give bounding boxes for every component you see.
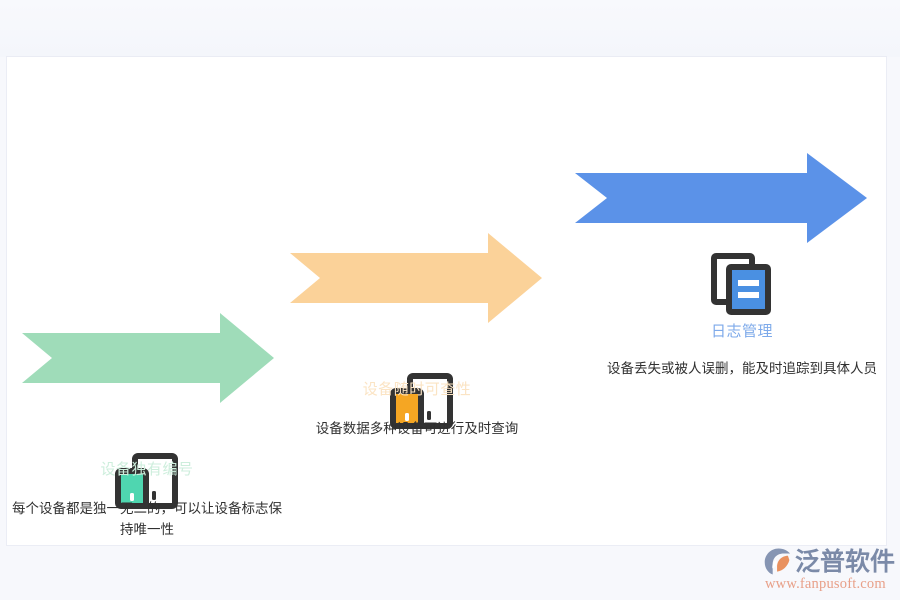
fanpu-logo-icon [764,547,793,576]
brand-logo-url: www.fanpusoft.com [764,576,900,593]
blue-arrow [575,153,867,243]
brand-logo-row: 泛普软件 [764,546,900,576]
green-arrow [22,313,274,403]
page-root: 设备独有编号 每个设备都是独一无二的，可以让设备标志保持唯一性 设备随时可查性 … [0,0,900,600]
step-title-1: 设备独有编号 [47,460,247,480]
content-card: 设备独有编号 每个设备都是独一无二的，可以让设备标志保持唯一性 设备随时可查性 … [7,57,886,545]
brand-logo: 泛普软件 www.fanpusoft.com [764,546,900,594]
step-description-3: 设备丢失或被人误删，能及时追踪到具体人员 [607,358,877,379]
step-description-2: 设备数据多种设备可进行及时查询 [282,418,552,439]
step-title-2: 设备随时可查性 [317,380,517,400]
orange-arrow [290,233,542,323]
documents-icon-blue [709,253,775,315]
brand-logo-name: 泛普软件 [795,547,895,576]
page-background-top [0,0,900,57]
step-description-1: 每个设备都是独一无二的，可以让设备标志保持唯一性 [12,498,282,540]
step-title-3: 日志管理 [642,322,842,342]
